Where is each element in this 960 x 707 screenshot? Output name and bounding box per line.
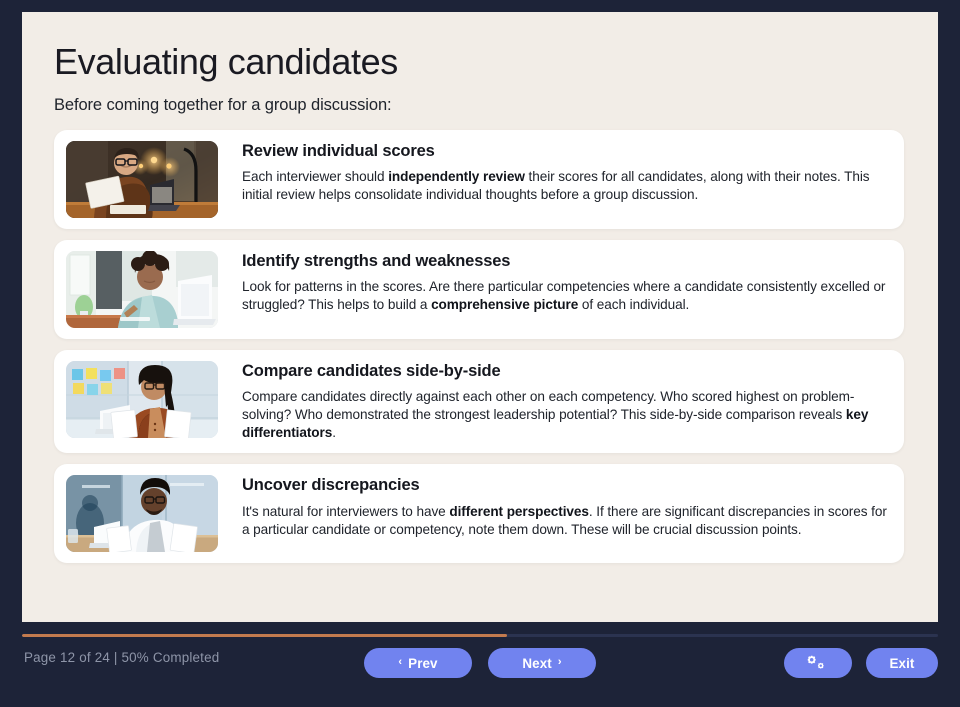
prev-button-label: Prev [408,656,437,671]
progress-bar-fill [22,634,507,637]
card-text: Each interviewer should independently re… [242,168,888,204]
page-status-label: Page 12 of 24 | 50% Completed [24,650,219,665]
list-item[interactable]: Review individual scores Each interviewe… [54,130,904,229]
card-list: Review individual scores Each interviewe… [54,130,904,564]
list-item[interactable]: Identify strengths and weaknesses Look f… [54,240,904,339]
card-body-4: Uncover discrepancies It's natural for i… [218,475,888,539]
card-text: It's natural for interviewers to have di… [242,503,888,539]
card-heading: Compare candidates side-by-side [242,362,888,382]
list-item[interactable]: Uncover discrepancies It's natural for i… [54,464,904,563]
navigation-controls: ‹ Prev Next › [364,648,596,678]
utility-controls: Exit [784,648,938,678]
presentation-frame: Evaluating candidates Before coming toge… [0,0,960,707]
prev-button[interactable]: ‹ Prev [364,648,472,678]
card-heading: Identify strengths and weaknesses [242,252,888,272]
next-button-label: Next [522,656,551,671]
progress-bar[interactable] [22,634,938,637]
settings-gears-icon [807,654,829,672]
presentation-footer: Page 12 of 24 | 50% Completed ‹ Prev Nex… [0,622,960,707]
exit-button-label: Exit [890,656,915,671]
card-thumbnail-4 [66,475,218,552]
next-button[interactable]: Next › [488,648,596,678]
card-body-1: Review individual scores Each interviewe… [218,141,888,205]
card-thumbnail-1 [66,141,218,218]
card-thumbnail-3 [66,361,218,438]
slide-canvas: Evaluating candidates Before coming toge… [22,12,938,622]
card-heading: Uncover discrepancies [242,476,888,496]
exit-button[interactable]: Exit [866,648,938,678]
page-subtitle: Before coming together for a group discu… [54,96,904,115]
card-text: Compare candidates directly against each… [242,388,888,442]
card-heading: Review individual scores [242,142,888,162]
chevron-left-icon: ‹ [398,657,402,668]
settings-button[interactable] [784,648,852,678]
card-body-3: Compare candidates side-by-side Compare … [218,361,888,443]
chevron-right-icon: › [558,657,562,668]
list-item[interactable]: Compare candidates side-by-side Compare … [54,350,904,454]
card-thumbnail-2 [66,251,218,328]
page-title: Evaluating candidates [54,42,904,82]
card-body-2: Identify strengths and weaknesses Look f… [218,251,888,315]
card-text: Look for patterns in the scores. Are the… [242,278,888,314]
